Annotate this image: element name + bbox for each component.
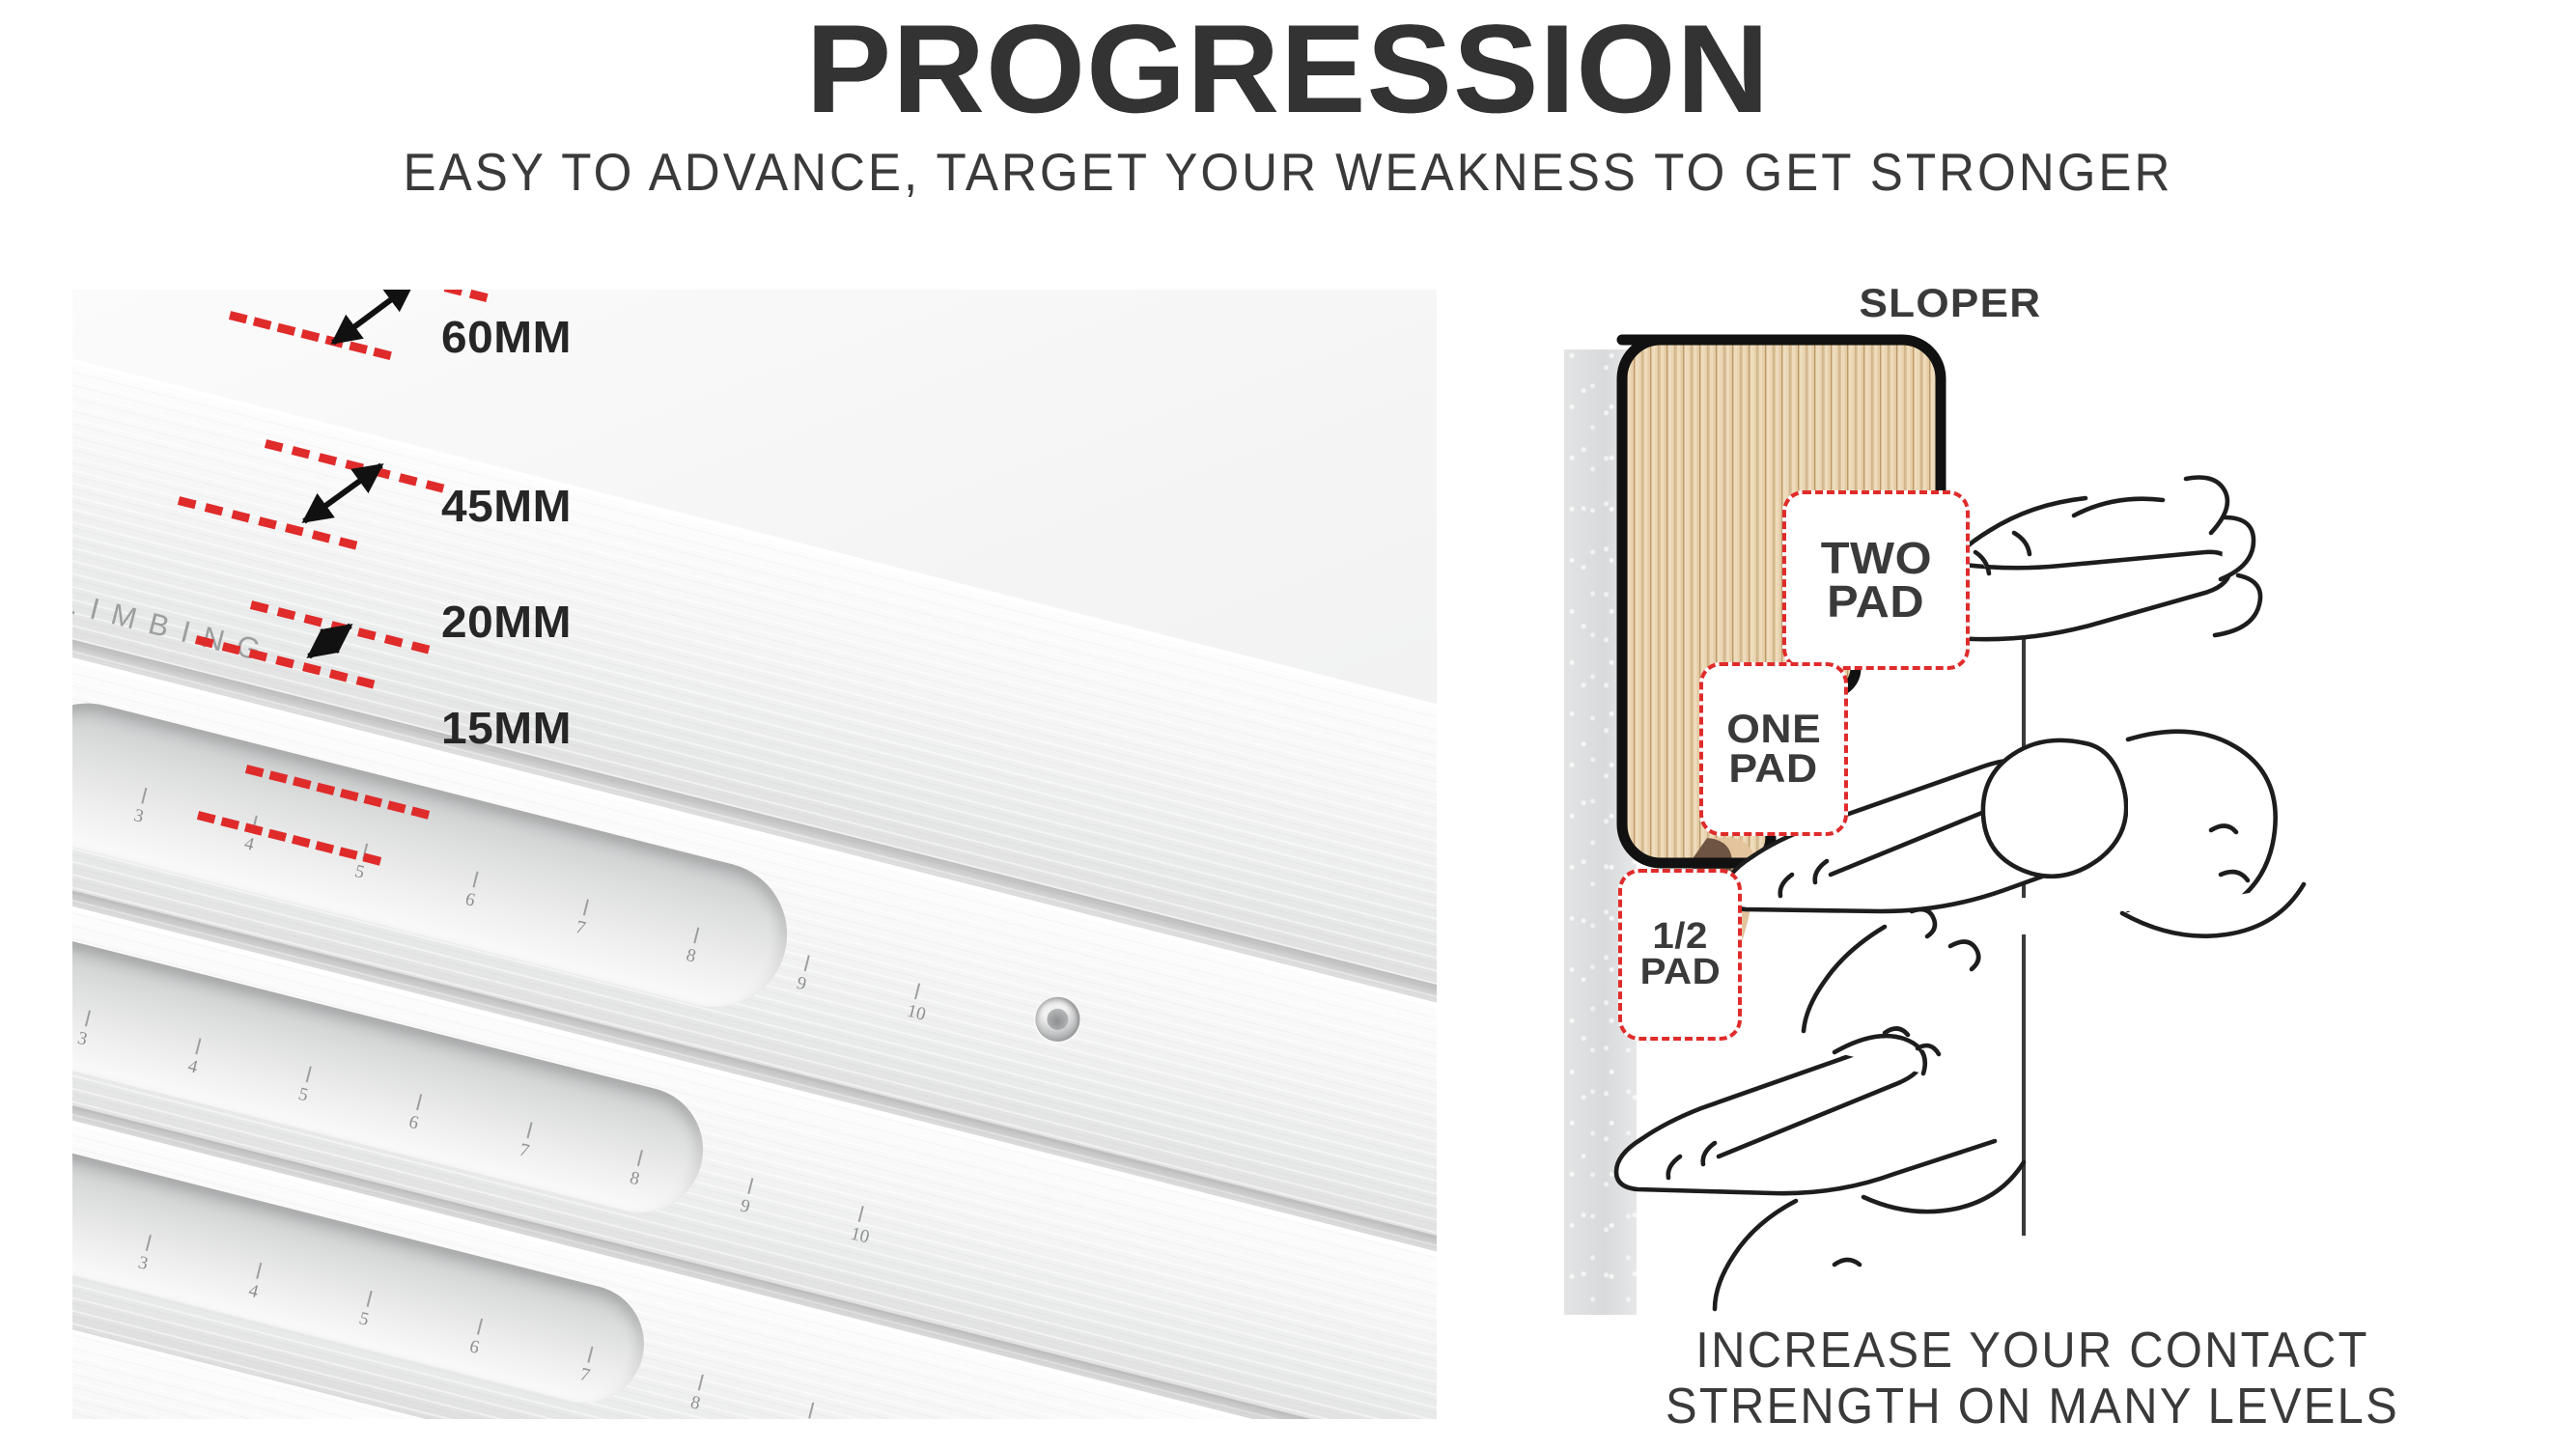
measure-label-20: 20MM (441, 596, 572, 648)
arrow-60 (333, 290, 412, 343)
pad-half-line2: PAD (1639, 955, 1721, 990)
pad-two-line1: TWO (1820, 537, 1931, 580)
sloper-board-illustration (1545, 290, 2520, 1323)
hand-half-pad (1616, 1028, 2024, 1309)
page-title: PROGRESSION (0, 0, 2576, 131)
caption-line-2: STRENGTH ON MANY LEVELS (1574, 1379, 2490, 1435)
pad-one-line2: PAD (1729, 749, 1818, 789)
sloper-diagram: SLOPER (1545, 290, 2520, 1438)
caption-line-1: INCREASE YOUR CONTACT (1574, 1323, 2490, 1379)
arrow-20 (309, 626, 350, 656)
arrow-45 (304, 465, 381, 521)
pad-callout-half: 1/2 PAD (1618, 869, 1742, 1041)
header: PROGRESSION EASY TO ADVANCE, TARGET YOUR… (0, 0, 2576, 203)
measure-label-60: 60MM (441, 311, 572, 363)
measurement-arrows (72, 290, 1437, 1419)
diagram-caption: INCREASE YOUR CONTACT STRENGTH ON MANY L… (1574, 1323, 2490, 1435)
pad-callout-two: TWO PAD (1782, 490, 1970, 670)
page-subtitle: EASY TO ADVANCE, TARGET YOUR WEAKNESS TO… (90, 131, 2485, 203)
measure-label-15: 15MM (441, 702, 572, 754)
pad-half-line1: 1/2 (1652, 919, 1708, 955)
measure-label-45: 45MM (441, 480, 572, 532)
pad-one-line1: ONE (1726, 710, 1821, 749)
hangboard-photo-panel: APE CLIMBING 45mm 20mm 15mm 12345678910 … (72, 290, 1437, 1419)
pad-two-line2: PAD (1828, 580, 1925, 624)
page-title-text: PROGRESSION (806, 0, 1771, 139)
pad-callout-one: ONE PAD (1699, 662, 1848, 836)
